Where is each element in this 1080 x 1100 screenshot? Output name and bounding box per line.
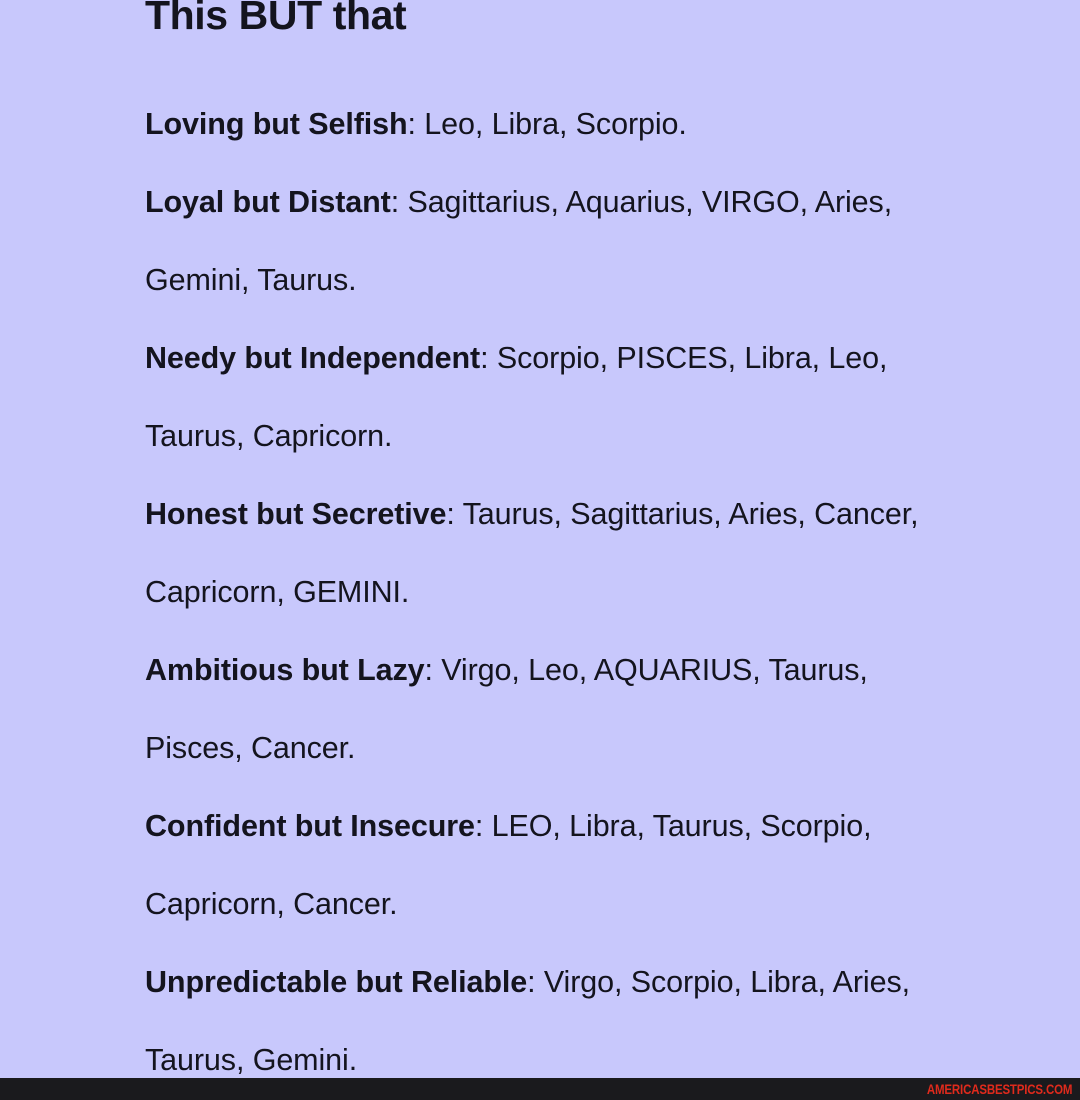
entry-label: Unpredictable but Reliable	[145, 965, 527, 999]
entry-label: Needy but Independent	[145, 341, 480, 375]
list-item: Honest but Secretive: Taurus, Sagittariu…	[145, 475, 945, 631]
entry-label: Ambitious but Lazy	[145, 653, 424, 687]
entry-separator: :	[391, 185, 408, 219]
entry-separator: :	[480, 341, 497, 375]
list-item: Loving but Selfish: Leo, Libra, Scorpio.	[145, 85, 945, 163]
entry-label: Honest but Secretive	[145, 497, 446, 531]
entry-separator: :	[446, 497, 462, 531]
entry-label: Loyal but Distant	[145, 185, 391, 219]
entry-separator: :	[408, 107, 425, 141]
watermark-label: AMERICASBESTPICS.COM	[927, 1081, 1072, 1097]
watermark-bar: AMERICASBESTPICS.COM	[0, 1078, 1080, 1100]
list-item: Ambitious but Lazy: Virgo, Leo, AQUARIUS…	[145, 631, 945, 787]
list-item: Unpredictable but Reliable: Virgo, Scorp…	[145, 943, 945, 1078]
meme-card: This BUT that Loving but Selfish: Leo, L…	[0, 0, 1080, 1078]
list-item: Loyal but Distant: Sagittarius, Aquarius…	[145, 163, 945, 319]
entry-separator: :	[527, 965, 544, 999]
list-item: Confident but Insecure: LEO, Libra, Taur…	[145, 787, 945, 943]
page-title: This BUT that	[145, 0, 406, 39]
entry-label: Loving but Selfish	[145, 107, 408, 141]
entry-separator: :	[424, 653, 441, 687]
entry-label: Confident but Insecure	[145, 809, 475, 843]
list-item: Needy but Independent: Scorpio, PISCES, …	[145, 319, 945, 475]
entry-signs: Leo, Libra, Scorpio.	[424, 107, 687, 141]
trait-entry-list: Loving but Selfish: Leo, Libra, Scorpio.…	[145, 85, 945, 1078]
entry-separator: :	[475, 809, 492, 843]
